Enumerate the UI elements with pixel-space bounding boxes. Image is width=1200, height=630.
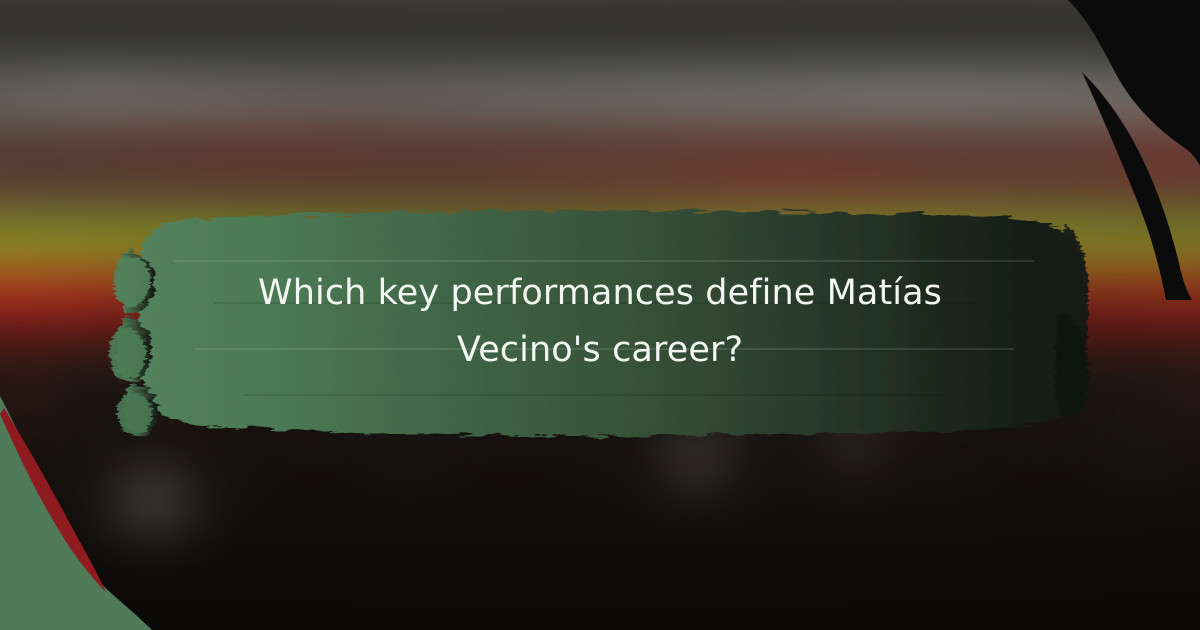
question-headline: Which key performances define Matías Vec…	[150, 198, 1050, 446]
headline-line-1: Which key performances define Matías	[258, 265, 942, 322]
question-card: Which key performances define Matías Vec…	[0, 0, 1200, 630]
headline-line-2: Vecino's career?	[457, 322, 743, 379]
